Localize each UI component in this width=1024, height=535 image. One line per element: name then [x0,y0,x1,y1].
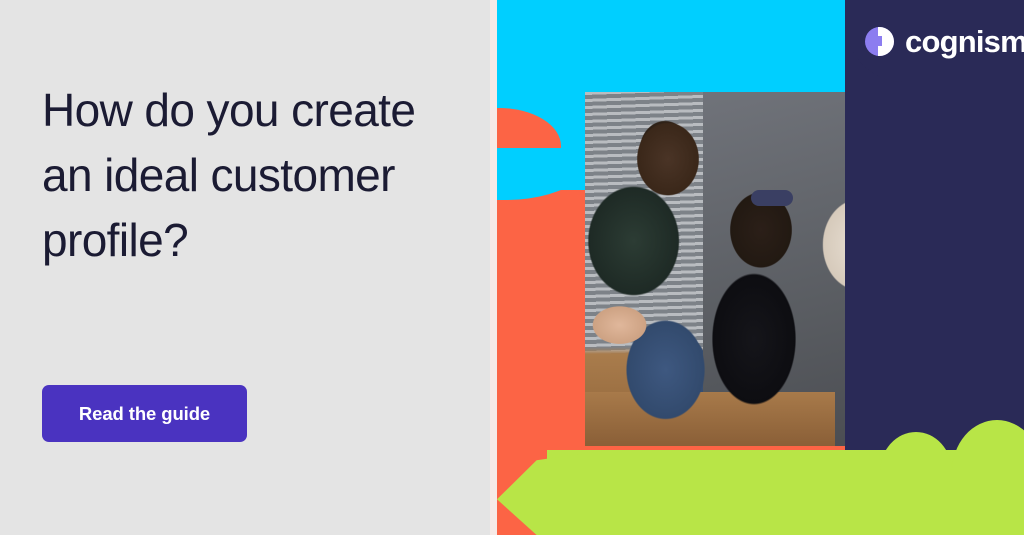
panel-divider [490,0,497,535]
promo-banner: How do you create an ideal customer prof… [0,0,1024,535]
left-content-panel: How do you create an ideal customer prof… [0,0,490,535]
brand-logo[interactable]: cognism [845,0,1024,82]
green-arrow-point-shape [497,450,607,535]
photo-person-left-head [623,104,713,210]
page-title: How do you create an ideal customer prof… [42,78,442,273]
read-the-guide-button[interactable]: Read the guide [42,385,247,442]
photo-person-left-arm [585,288,657,352]
photo-sunglasses [751,190,793,206]
cognism-circle-icon [865,27,894,56]
cognism-circle-icon-notch [873,36,882,46]
brand-name: cognism [905,26,1024,57]
navy-panel-lower [845,78,1024,458]
